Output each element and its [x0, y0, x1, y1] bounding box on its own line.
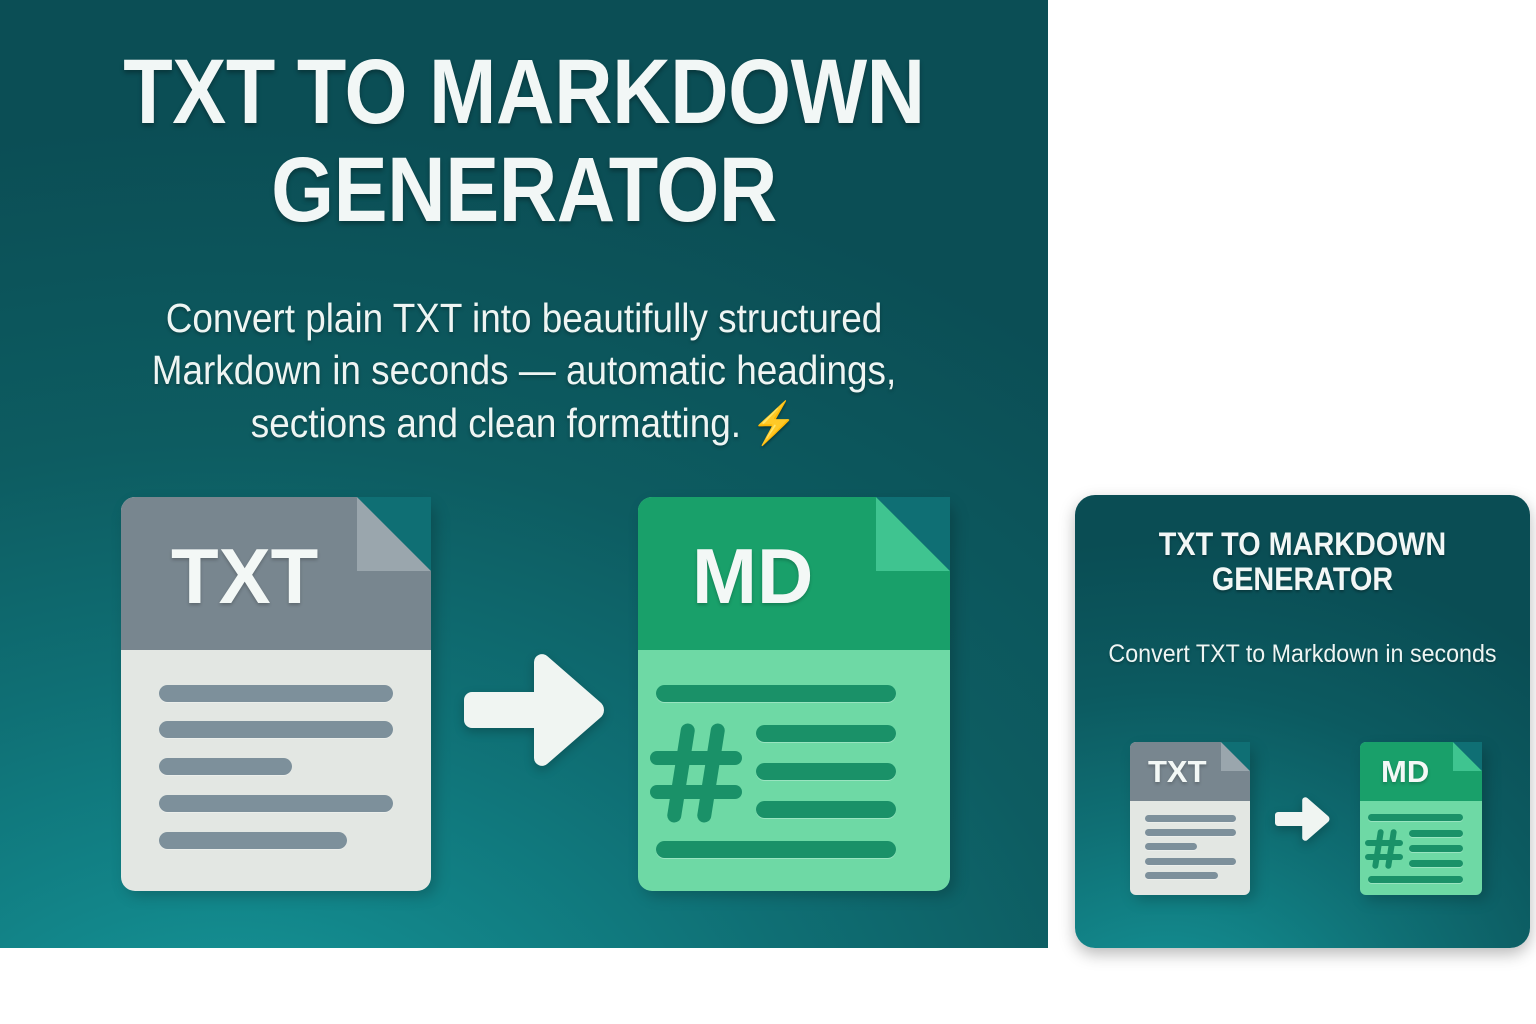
card-md-file-icon: MD: [1360, 742, 1482, 895]
md-icon-line: [756, 763, 896, 780]
md-icon-line: [756, 801, 896, 818]
card-txt-icon-line: [1145, 872, 1218, 879]
card-txt-icon-label: TXT: [1148, 756, 1207, 787]
card-md-icon-line: [1409, 860, 1463, 867]
hero-subtitle: Convert plain TXT into beautifully struc…: [106, 292, 941, 449]
card-md-icon-label: MD: [1381, 756, 1429, 787]
md-icon-label: MD: [692, 537, 813, 615]
lightning-bolt-icon: ⚡: [751, 400, 797, 446]
card-md-icon-line: [1409, 830, 1463, 837]
md-file-icon: MD: [638, 497, 950, 891]
txt-icon-line: [159, 795, 393, 812]
txt-icon-line: [159, 832, 347, 849]
card-md-icon-line: [1368, 876, 1463, 883]
card-txt-icon-line: [1145, 815, 1236, 822]
card-md-icon-body: MD: [1360, 742, 1482, 895]
card-md-icon-line: [1409, 845, 1463, 852]
md-icon-hash-icon: [652, 723, 744, 823]
md-icon-line: [756, 725, 896, 742]
card-arrow-right-icon: [1275, 797, 1331, 841]
txt-icon-line: [159, 721, 393, 738]
canvas: TXT TO MARKDOWN GENERATOR Convert plain …: [0, 0, 1536, 1024]
card-txt-icon-body: TXT: [1130, 742, 1250, 895]
txt-icon-line: [159, 685, 393, 702]
card-txt-icon-line: [1145, 858, 1236, 865]
card-title: TXT TO MARKDOWN GENERATOR: [1098, 527, 1508, 596]
hero-panel: TXT TO MARKDOWN GENERATOR Convert plain …: [0, 0, 1048, 948]
page-title: TXT TO MARKDOWN GENERATOR: [63, 44, 985, 239]
txt-file-icon: TXT: [121, 497, 431, 891]
arrow-right-icon: [464, 654, 608, 766]
card-txt-file-icon: TXT: [1130, 742, 1250, 895]
card-md-icon-hash-icon: [1366, 829, 1404, 869]
card-txt-icon-line: [1145, 843, 1197, 850]
card-subtitle: Convert TXT to Markdown in seconds: [1108, 639, 1498, 670]
md-icon-body: MD: [638, 497, 950, 891]
card-md-icon-line: [1368, 814, 1463, 821]
txt-icon-line: [159, 758, 292, 775]
thumbnail-card[interactable]: TXT TO MARKDOWN GENERATOR Convert TXT to…: [1075, 495, 1530, 948]
txt-icon-label: TXT: [171, 537, 318, 615]
txt-icon-body: TXT: [121, 497, 431, 891]
md-icon-line: [656, 841, 896, 858]
md-icon-line: [656, 685, 896, 702]
card-txt-icon-line: [1145, 829, 1236, 836]
